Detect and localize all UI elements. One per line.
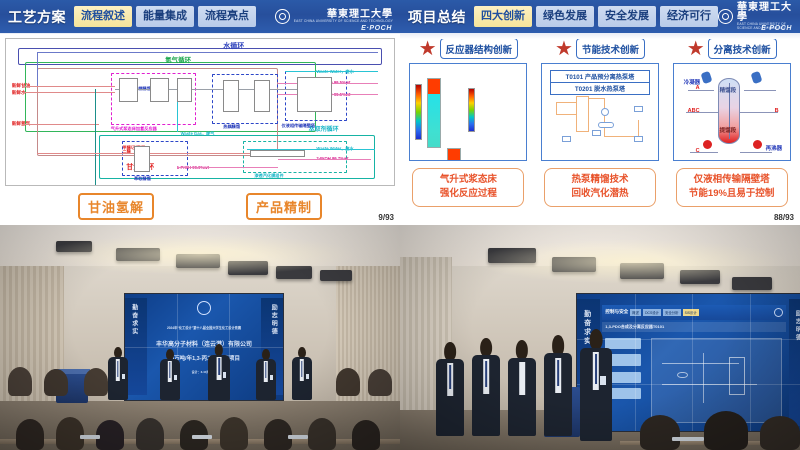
label-hydrogen-cycle: 氢气循环 <box>165 58 191 65</box>
heatpump-pump-1 <box>562 136 571 142</box>
innovation-title-energy: 节能技术创新 <box>576 38 645 59</box>
vessel-reactor-1 <box>119 78 138 101</box>
laptop-3 <box>288 435 308 439</box>
innovation-card-separation: ★ 分离技术创新 ABC A B <box>667 38 796 225</box>
dwc-rectifying-label: 精馏段 <box>720 86 737 94</box>
tab-green-development[interactable]: 绿色发展 <box>536 6 594 26</box>
process-flow-diagram: 水循环 氢气循环 甘油循环 萃取剂循环 新鲜甘油 新鲜水 新鲜氢气 气升式浆态床… <box>0 34 400 225</box>
slide-left-tabs: 流程叙述 能量集成 流程亮点 <box>74 6 256 26</box>
heatpump-label-t0201: T0201 脱水热泵塔 <box>550 82 650 95</box>
screen-emblem-icon <box>197 301 211 315</box>
innovation-panel-heatpump: T0101 产品预分离热泵塔 T0201 脱水热泵塔 <box>541 63 659 161</box>
photo-presentation-wide: 勤奋求实 励志明德 2024年“化工设计”第十八届全国大学生化工设计竞赛 丰华高… <box>0 225 400 450</box>
screen-motto-right: 励志明德 <box>269 304 278 336</box>
tag-glycerol-hydrogenolysis: 甘油氢解 <box>78 193 154 220</box>
vessel-extractive-column <box>134 146 150 172</box>
heatpump-compressor-icon <box>601 108 609 116</box>
caption-line-2: 回收汽化潜热 <box>547 187 653 201</box>
cfd-colorbar-2 <box>468 88 475 132</box>
vessel-reactor-3 <box>177 78 193 101</box>
photo-presentation-closeup: 勤奋求实 励志明德 控制与安全 概述 DCS设计 安全分析 SIS设计 1,3-… <box>400 225 800 450</box>
innovation-caption-separation: 仅液相传输隔壁塔 节能19%且易于控制 <box>676 168 788 207</box>
innovation-panel-dwc: ABC A B C 冷凝器 再沸器 精馏段 提馏段 <box>673 63 791 161</box>
unit-label-dwc: 仅液相传输隔壁塔 <box>281 124 315 128</box>
heatpump-pump-2 <box>592 130 601 136</box>
slide-left-header: 工艺方案 流程叙述 能量集成 流程亮点 華東理工大學 EAST CHINA UN… <box>0 0 400 34</box>
tag-product-refining: 产品精制 <box>246 193 322 220</box>
reboiler-right-icon <box>753 140 762 149</box>
pipe-water-left <box>37 52 38 87</box>
slide-process-scheme: 工艺方案 流程叙述 能量集成 流程亮点 華東理工大學 EAST CHINA UN… <box>0 0 400 225</box>
vessel-membrane-module <box>250 150 304 157</box>
epoch-wordmark-right: E·POCH <box>761 25 792 32</box>
pfd-frame: 水循环 氢气循环 甘油循环 萃取剂循环 新鲜甘油 新鲜水 新鲜氢气 气升式浆态床… <box>5 38 395 186</box>
heatpump-drum <box>598 122 614 128</box>
heatpump-column <box>576 96 589 132</box>
slide-right-tabs: 四大创新 绿色发展 安全发展 经济可行 <box>474 6 718 26</box>
laptop-1 <box>672 437 704 441</box>
university-name-en: EAST CHINA UNIVERSITY OF SCIENCE AND TEC… <box>294 20 393 23</box>
condenser-left-icon <box>700 71 712 84</box>
caption-line-1: 热泵精馏技术 <box>547 173 653 187</box>
slide-left-title: 工艺方案 <box>0 7 74 27</box>
unit-label-heat-coupled-b: 热耦精馏 <box>223 125 240 129</box>
star-icon: ★ <box>555 40 573 58</box>
innovation-caption-energy: 热泵精馏技术 回收汽化潜热 <box>544 168 656 207</box>
unit-label-pervaporation: 渗透汽化膜组件 <box>254 174 283 178</box>
dwc-reboiler-label: 再沸器 <box>766 144 783 152</box>
tab-process-narrative[interactable]: 流程叙述 <box>74 6 132 26</box>
caption-line-2: 节能19%且易于控制 <box>679 187 785 201</box>
tab-four-innovations[interactable]: 四大创新 <box>474 6 532 26</box>
pipe-waste-water-1 <box>285 71 378 72</box>
dwc-product-c-label: C <box>696 148 700 154</box>
pipe-reactor-out <box>115 89 325 90</box>
university-name-cn: 華東理工大學 <box>737 3 793 23</box>
innovation-card-energy: ★ 节能技术创新 T0101 产品预分离热泵塔 T0201 脱水热泵塔 <box>536 38 665 225</box>
label-water-cycle: 水循环 <box>223 43 244 50</box>
cfd-colorbar-1 <box>415 84 422 140</box>
slide-project-summary: 项目总结 四大创新 绿色发展 安全发展 经济可行 華東理工大學 EAST CHI… <box>400 0 800 225</box>
screen-slide-title: 控制与安全 <box>605 309 628 315</box>
university-logo-left: 華東理工大學 EAST CHINA UNIVERSITY OF SCIENCE … <box>275 9 400 24</box>
vessel-column-a <box>223 80 239 112</box>
vessel-dwc <box>297 77 332 112</box>
screen-emblem-icon <box>774 308 783 317</box>
pipe-1proh <box>177 167 278 168</box>
audience-front-row <box>0 396 400 450</box>
light-glow <box>472 239 792 284</box>
tab-safe-development[interactable]: 安全发展 <box>598 6 656 26</box>
pipe-glycerol-feed <box>22 86 115 87</box>
heatpump-pump-3 <box>634 136 643 142</box>
caption-line-2: 强化反应过程 <box>415 187 521 201</box>
pipe-hydrogen-feed <box>22 124 100 125</box>
slide-right-header: 项目总结 四大创新 绿色发展 安全发展 经济可行 華東理工大學 EAST CHI… <box>400 0 800 34</box>
screenshot-root: 工艺方案 流程叙述 能量集成 流程亮点 華東理工大學 EAST CHINA UN… <box>0 0 800 450</box>
ecust-emblem-icon <box>718 9 733 24</box>
cfd-tube-1 <box>427 78 441 148</box>
tab-energy-integration[interactable]: 能量集成 <box>136 6 194 26</box>
unit-label-extractive: 萃取精馏 <box>134 177 151 181</box>
light-glow <box>40 234 360 275</box>
pipe-water-top <box>37 52 378 53</box>
screen-tab-1: 概述 <box>630 309 641 316</box>
innovation-caption-reactor: 气升式浆态床 强化反应过程 <box>412 168 524 207</box>
star-icon: ★ <box>419 40 437 58</box>
pipe-glycerol-recycle <box>37 153 278 154</box>
caption-line-1: 气升式浆态床 <box>415 173 521 187</box>
tab-process-highlights[interactable]: 流程亮点 <box>198 6 256 26</box>
pipe-recycle-main <box>95 89 96 185</box>
screen-tab-2: DCS设计 <box>643 309 661 316</box>
audience-back-row <box>0 360 400 396</box>
ecust-emblem-icon <box>275 9 290 24</box>
page-number-right: 88/93 <box>774 213 794 222</box>
innovation-title-separation: 分离技术创新 <box>708 38 777 59</box>
pipe-water-feed <box>22 92 115 93</box>
epoch-wordmark-left: E·POCH <box>361 25 392 32</box>
vessel-column-b <box>254 80 270 112</box>
reboiler-left-icon <box>703 140 712 149</box>
caption-line-1: 仅液相传输隔壁塔 <box>679 173 785 187</box>
dwc-stripping-label: 提馏段 <box>720 126 737 134</box>
stream-waste-gas: Waste Gas，废气 <box>181 132 215 136</box>
screen-tab-4: SIS设计 <box>683 309 699 316</box>
vessel-reactor-2 <box>150 78 169 101</box>
screen-motto-right: 励志明德 <box>793 310 800 342</box>
star-icon: ★ <box>687 40 705 58</box>
tab-economic-feasibility[interactable]: 经济可行 <box>660 6 718 26</box>
page-number-left: 9/93 <box>378 213 394 222</box>
slide-right-title: 项目总结 <box>400 7 474 27</box>
condenser-right-icon <box>750 71 762 84</box>
pipe-2proh <box>278 159 371 160</box>
screen-motto-left: 勤奋求实 <box>130 304 139 336</box>
innovation-panel-cfd <box>409 63 527 161</box>
innovations-row: ★ 反应器结构创新 <box>400 34 800 225</box>
dwc-product-b-label: B <box>775 108 779 114</box>
screen-slide-subtitle-bar: 1,3-PDO合成及分离反应器T0101 <box>602 322 786 332</box>
heatpump-pump-4 <box>634 106 643 112</box>
screen-line-top: 2024年“化工设计”第十八届全国大学生化工设计竞赛 <box>150 325 257 330</box>
dwc-condenser-label: 冷凝器 <box>684 78 701 86</box>
unit-label-slurry-reactor: 气升式浆态床加氢反应器 <box>111 127 161 131</box>
innovation-card-reactor: ★ 反应器结构创新 <box>404 38 533 225</box>
dwc-feed-label: ABC <box>688 108 700 114</box>
audience-foreground <box>400 401 800 450</box>
screen-tab-3: 安全分析 <box>663 309 681 316</box>
cfd-tube-2 <box>447 148 461 161</box>
laptop-2 <box>192 435 212 439</box>
screen-slide-header: 控制与安全 概述 DCS设计 安全分析 SIS设计 <box>602 305 786 320</box>
innovation-title-reactor: 反应器结构创新 <box>440 38 519 59</box>
section-tags: 甘油氢解 产品精制 <box>5 193 395 220</box>
laptop-1 <box>80 435 100 439</box>
